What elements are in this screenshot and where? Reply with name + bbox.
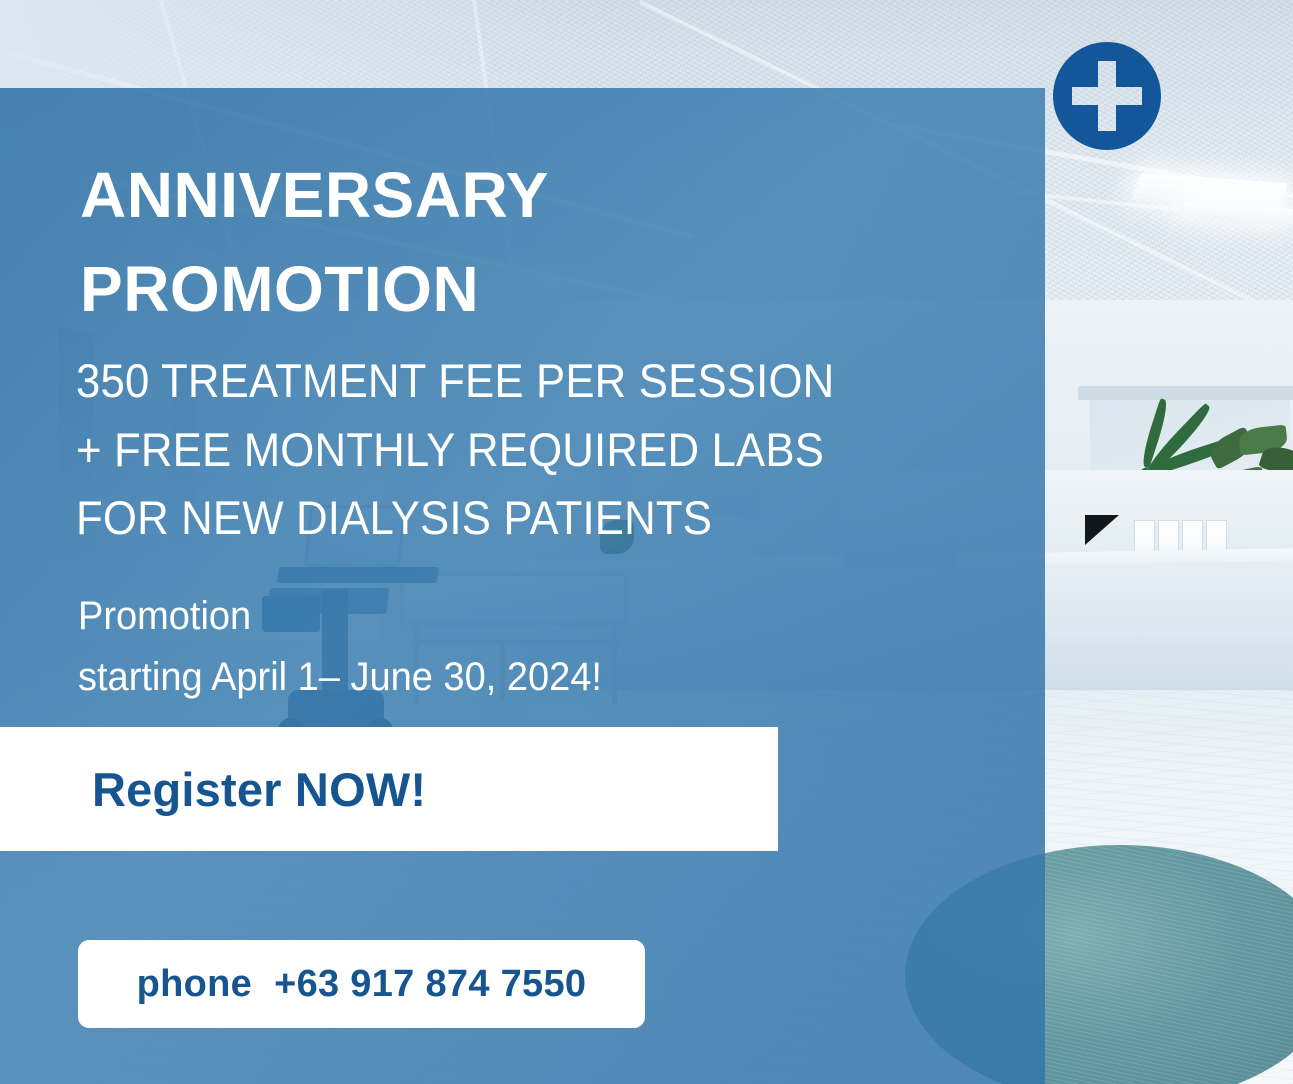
page-title: ANNIVERSARY PROMOTION	[80, 148, 960, 336]
phone-number: +63 917 874 7550	[274, 963, 586, 1005]
subhead-line-1: 350 TREATMENT FEE PER SESSION	[76, 347, 941, 416]
register-cta-bar[interactable]: Register NOW!	[0, 727, 778, 851]
banner-content: ANNIVERSARY PROMOTION 350 TREATMENT FEE …	[0, 0, 1293, 1084]
subhead-line-3: FOR NEW DIALYSIS PATIENTS	[76, 484, 941, 553]
phone-label: phone	[137, 963, 252, 1005]
offer-description: 350 TREATMENT FEE PER SESSION + FREE MON…	[76, 347, 941, 553]
medical-cross-icon	[1053, 42, 1161, 150]
promotional-banner: ANNIVERSARY PROMOTION 350 TREATMENT FEE …	[0, 0, 1293, 1084]
phone-contact-pill[interactable]: phone+63 917 874 7550	[78, 940, 645, 1028]
headline-line-2: PROMOTION	[80, 242, 960, 336]
subhead-line-2: + FREE MONTHLY REQUIRED LABS	[76, 416, 941, 485]
phone-contact-text: phone+63 917 874 7550	[137, 963, 587, 1006]
medical-cross-badge	[1053, 42, 1161, 150]
headline-line-1: ANNIVERSARY	[80, 148, 960, 242]
dates-line-1: Promotion	[78, 586, 838, 647]
register-button-label: Register NOW!	[92, 762, 426, 817]
promotion-dates: Promotion starting April 1– June 30, 202…	[78, 586, 838, 708]
dates-line-2: starting April 1– June 30, 2024!	[78, 647, 838, 708]
